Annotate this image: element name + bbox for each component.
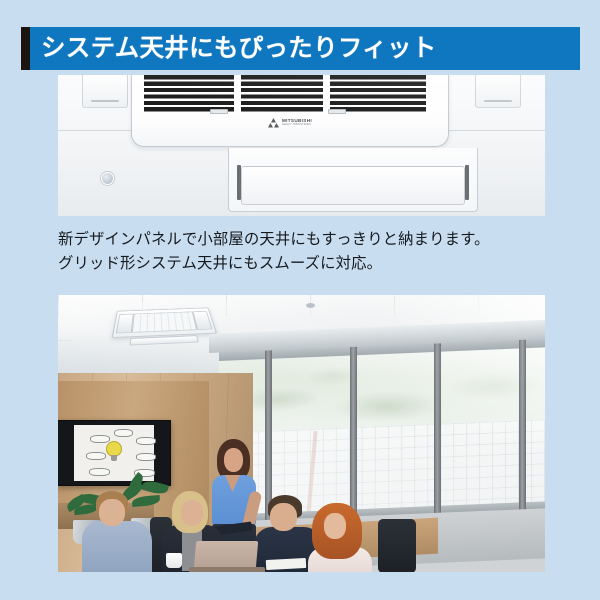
installation-scene-photo	[58, 295, 545, 572]
intake-grille-right	[330, 75, 426, 113]
window-mullion-3	[434, 331, 441, 526]
sensor-button-icon	[101, 172, 114, 185]
coffee-mug	[166, 553, 182, 568]
cassette-unit-body: MITSUBISHI HEAVY INDUSTRIES	[131, 75, 449, 147]
face	[224, 448, 243, 472]
intake-grille-center	[241, 75, 323, 113]
window-mullion-2	[349, 332, 356, 528]
installed-ceiling-cassette	[112, 308, 217, 338]
page-title: システム天井にもぴったりフィット	[30, 27, 437, 70]
idea-bubble	[136, 453, 156, 461]
face	[99, 499, 125, 526]
intake-grille-left	[144, 75, 234, 113]
laptop	[194, 541, 258, 569]
idea-bubble	[114, 429, 133, 437]
header-banner: システム天井にもぴったりフィット	[21, 27, 580, 70]
face	[324, 513, 346, 539]
three-diamonds-icon	[268, 118, 279, 128]
air-outlet-flap	[228, 148, 478, 212]
person-seated-red-haired-woman	[306, 503, 374, 572]
office-chair-right	[378, 519, 416, 572]
bulb-base	[111, 455, 117, 461]
description-text: 新デザインパネルで小部屋の天井にもすっきりと納まります。 グリッド形システム天井…	[58, 228, 558, 276]
idea-bubble	[86, 452, 106, 460]
brand-subtitle: HEAVY INDUSTRIES	[282, 124, 312, 127]
ceiling-tile-left	[82, 75, 128, 108]
cassette-intake-panel	[132, 311, 197, 332]
papers	[266, 558, 306, 570]
grille-tab-right	[328, 109, 346, 114]
header-accent-bar	[21, 27, 30, 70]
window-mullion-4	[519, 331, 526, 522]
idea-bubble	[90, 435, 110, 443]
laptop-base	[189, 567, 265, 572]
product-feature-page: システム天井にもぴったりフィット MITSUBISHI HEAVY INDUST…	[0, 0, 600, 600]
product-photo: MITSUBISHI HEAVY INDUSTRIES	[58, 75, 545, 216]
flap-panel	[241, 166, 465, 205]
idea-bubble	[136, 437, 156, 445]
idea-bubble	[89, 468, 110, 476]
face	[181, 500, 203, 526]
ceiling-tile-right	[475, 75, 521, 108]
flap-hinge-right	[465, 165, 469, 200]
cassette-vane-right	[193, 311, 213, 330]
brand-logo: MITSUBISHI HEAVY INDUSTRIES	[268, 118, 312, 128]
grille-tab-left	[210, 109, 228, 114]
description-line-1: 新デザインパネルで小部屋の天井にもすっきりと納まります。	[58, 228, 558, 252]
person-seated-man-blue-shirt	[82, 491, 154, 572]
lightbulb-icon	[106, 441, 122, 461]
whiteboard-graphic	[74, 425, 154, 481]
presentation-screen	[58, 420, 171, 486]
brand-text: MITSUBISHI HEAVY INDUSTRIES	[282, 119, 312, 127]
smoke-detector-icon	[306, 303, 315, 308]
face	[270, 503, 297, 531]
description-line-2: グリッド形システム天井にもスムーズに対応。	[58, 252, 558, 276]
torso	[82, 521, 152, 572]
